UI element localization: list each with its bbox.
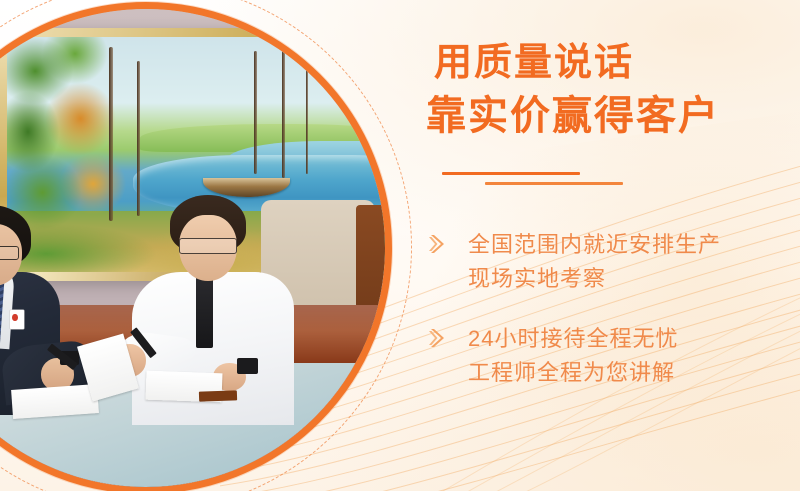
- feature-item-2-line-1: 24小时接待全程无忧: [468, 322, 800, 356]
- chevron-right-icon: [428, 326, 448, 350]
- businessman-shirt-tie: [196, 277, 213, 349]
- feature-list: 全国范围内就近安排生产 现场实地考察 24小时接待全程无忧 工程师全程为您讲解: [420, 228, 800, 416]
- promo-banner: 用质量说话 靠实价赢得客户 全国范围内就近安排生产 现场实地考察: [0, 0, 800, 491]
- feature-item-1-line-2: 现场实地考察: [468, 262, 800, 296]
- chevron-right-icon: [428, 232, 448, 256]
- feature-item-2-line-2: 工程师全程为您讲解: [468, 356, 800, 390]
- feature-item-1: 全国范围内就近安排生产 现场实地考察: [420, 228, 800, 296]
- headline-line-2: 靠实价赢得客户: [426, 96, 786, 136]
- businessman-suit-glasses: [0, 246, 19, 260]
- document-paper: [11, 384, 99, 419]
- painting-tree-trunk: [254, 51, 257, 173]
- painting-tree-trunk: [282, 49, 285, 178]
- headline-line-1: 用质量说话: [434, 44, 786, 82]
- painting-tree-trunk: [306, 56, 308, 174]
- banner-content: 用质量说话 靠实价赢得客户 全国范围内就近安排生产 现场实地考察: [420, 0, 800, 491]
- feature-item-1-line-1: 全国范围内就近安排生产: [468, 228, 800, 262]
- businessman-shirt-watch: [237, 358, 259, 374]
- headline: 用质量说话 靠实价赢得客户: [426, 44, 786, 136]
- divider-rule-bottom: [485, 182, 623, 185]
- painting-tree-trunk: [137, 61, 140, 216]
- painting-trees: [0, 32, 180, 249]
- pen-holder: [198, 391, 237, 402]
- divider: [430, 172, 730, 185]
- feature-item-2: 24小时接待全程无忧 工程师全程为您讲解: [420, 322, 800, 390]
- photo-circle-frame: [0, 2, 392, 491]
- businessman-suit-badge: [10, 310, 24, 329]
- divider-rule-top: [442, 172, 580, 175]
- meeting-photo: [0, 9, 385, 487]
- painting-tree-trunk: [109, 47, 113, 221]
- businessman-shirt-glasses: [179, 238, 236, 253]
